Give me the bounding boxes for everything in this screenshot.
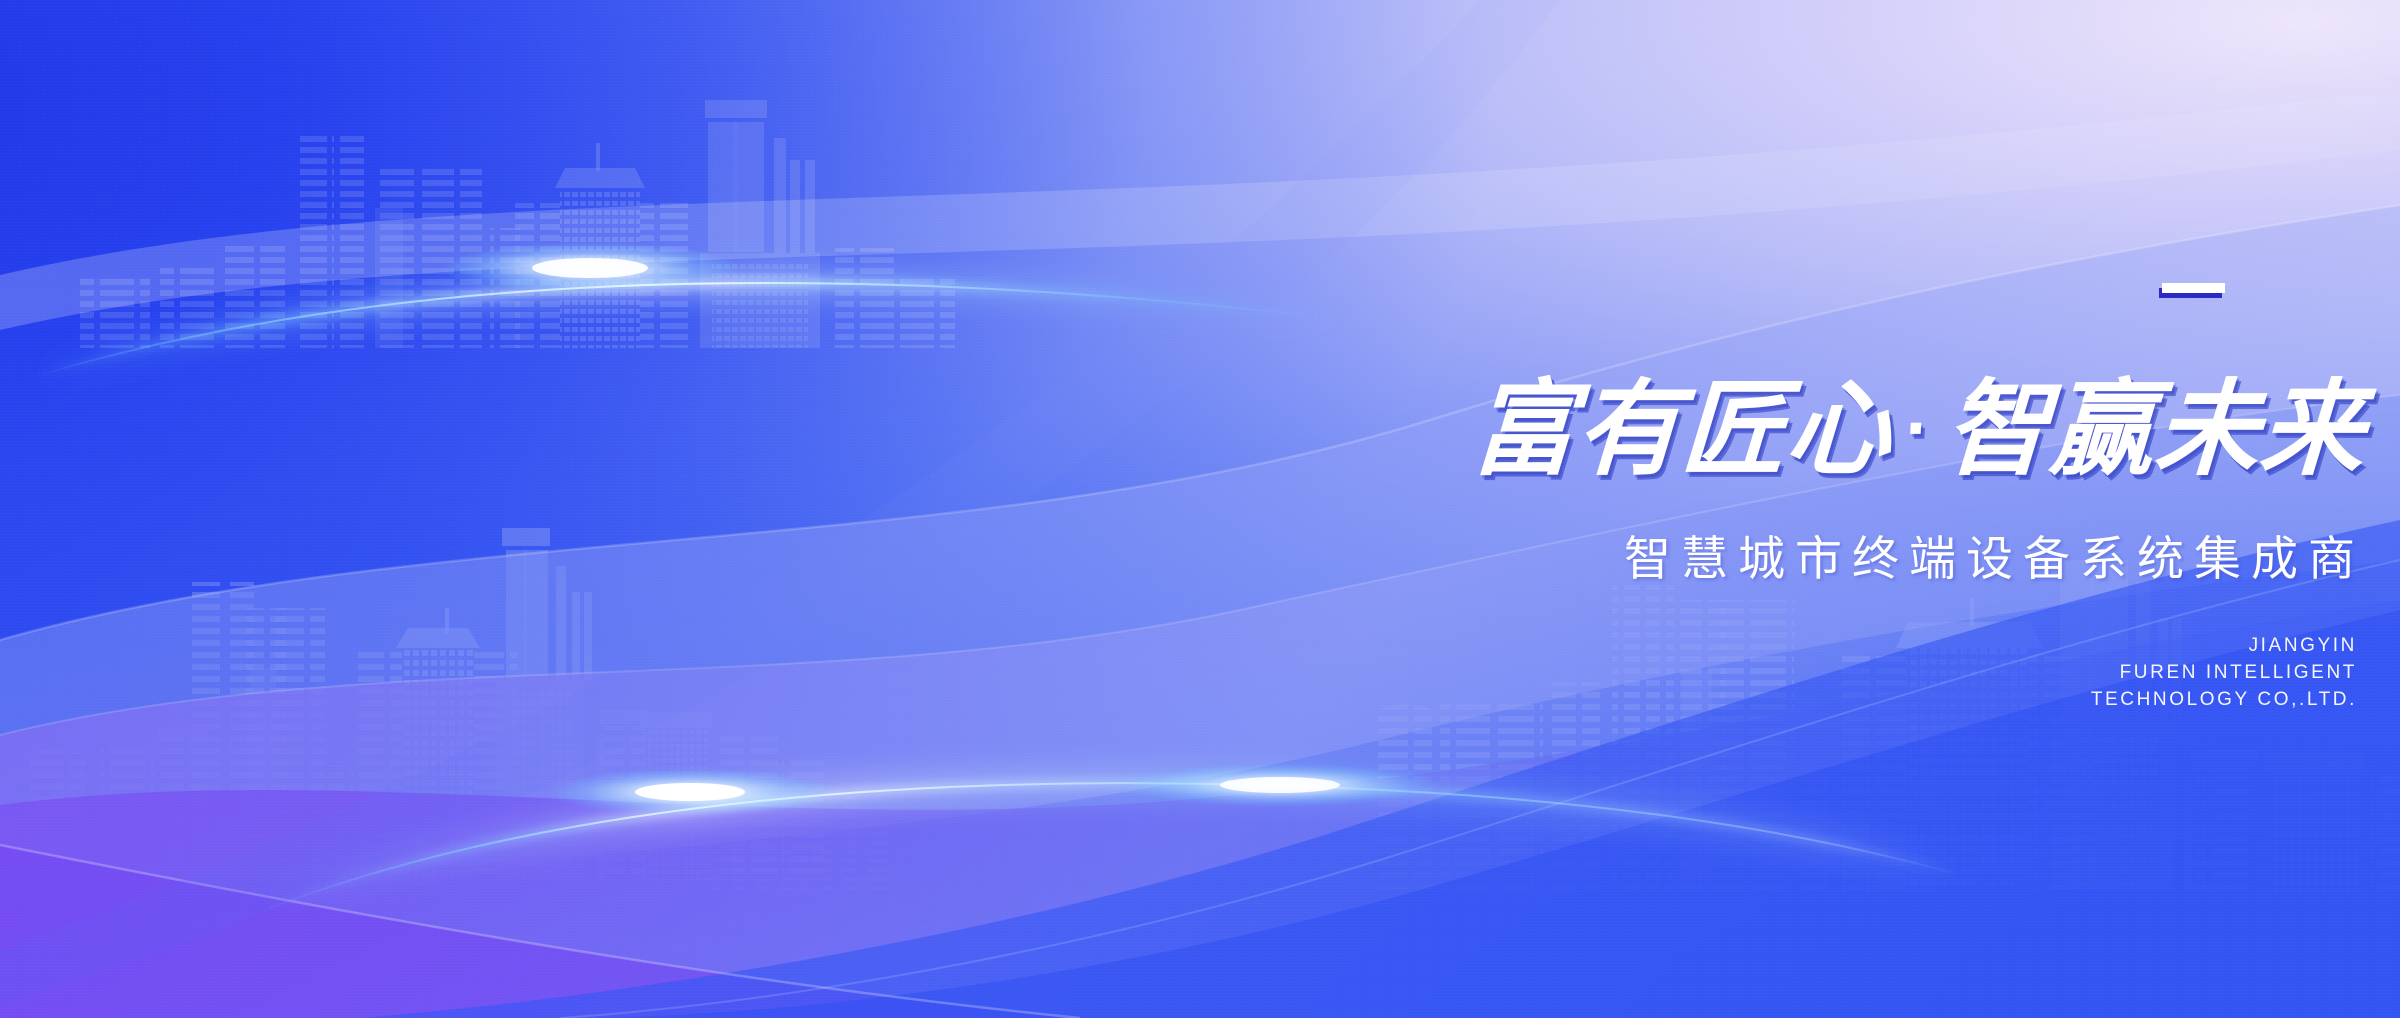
accent-dash-decoration: [2162, 283, 2225, 293]
page-title: 富有匠心·智赢未来: [1042, 378, 2370, 482]
title-part-1: 富有匠心: [1468, 372, 1894, 488]
title-part-2: 智赢未来: [1942, 372, 2368, 488]
headline-block: 富有匠心·智赢未来 智慧城市终端设备系统集成商 JIANGYIN FUREN I…: [1045, 180, 2365, 740]
company-name-english: JIANGYIN FUREN INTELLIGENT TECHNOLOGY CO…: [1737, 632, 2357, 713]
page-subtitle: 智慧城市终端设备系统集成商: [1045, 520, 2371, 589]
title-separator-dot: ·: [1889, 386, 1947, 469]
company-en-line-2: FUREN INTELLIGENT: [1737, 659, 2357, 686]
promotional-banner: 富有匠心·智赢未来 智慧城市终端设备系统集成商 JIANGYIN FUREN I…: [0, 0, 2400, 1018]
company-en-line-3: TECHNOLOGY CO,.LTD.: [1737, 686, 2357, 713]
company-en-line-1: JIANGYIN: [1737, 632, 2357, 659]
